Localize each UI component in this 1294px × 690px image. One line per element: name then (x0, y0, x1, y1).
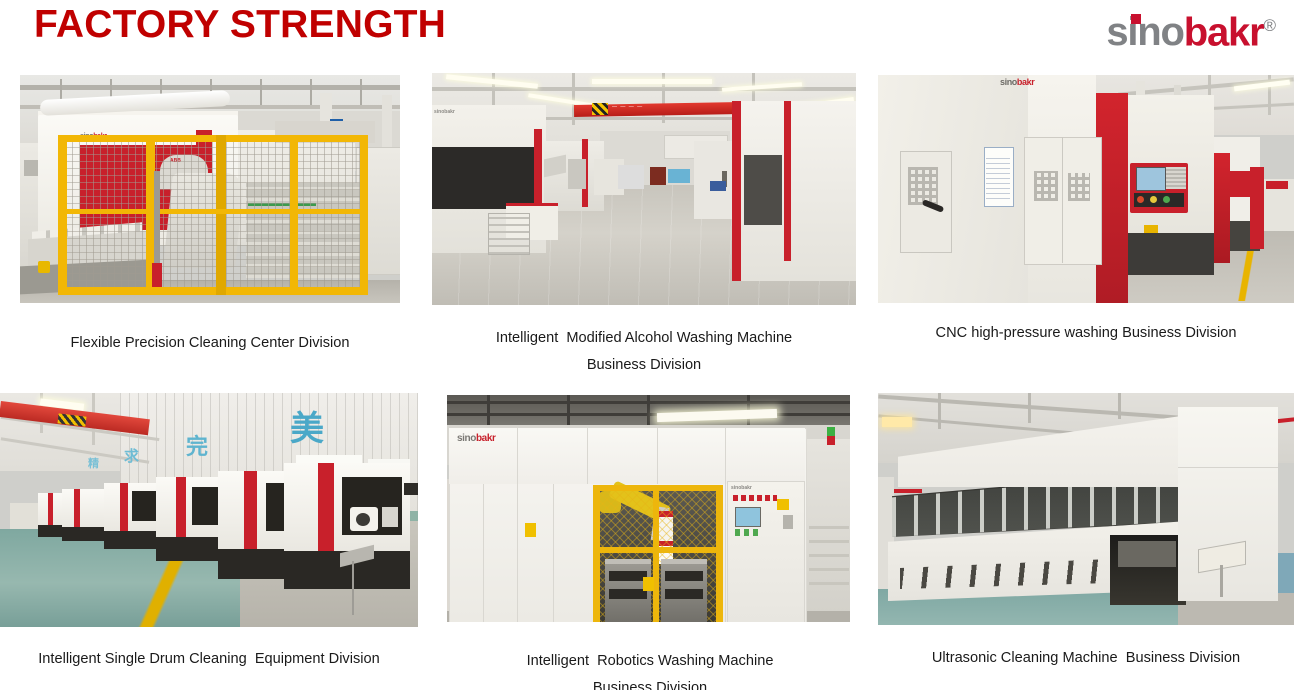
registered-trademark-icon: ® (1263, 16, 1276, 35)
caption-intelligent-single-drum-cleaning-equipment: Intelligent Single Drum Cleaning Equipme… (0, 646, 418, 673)
photo-intelligent-robotics-washing-machine: sinobakr sinobakr (447, 395, 850, 622)
factory-strength-slide: FACTORY STRENGTH sinobakr® sinobakr (0, 0, 1294, 690)
caption-cnc-high-pressure-washing: CNC high-pressure washing Business Divis… (878, 320, 1294, 347)
page-title: FACTORY STRENGTH (34, 3, 446, 47)
photo-cnc-high-pressure-washing: sinobakr (878, 75, 1294, 303)
caption-intelligent-robotics-washing-machine: Intelligent Robotics Washing MachineBusi… (440, 648, 860, 690)
caption-flexible-precision-cleaning-center: Flexible Precision Cleaning Center Divis… (20, 330, 400, 357)
control-cabinet-logo: sinobakr (731, 485, 752, 491)
photo-flexible-precision-cleaning-center: sinobakr ABB (20, 75, 400, 303)
machine-logo: sinobakr (457, 433, 496, 444)
photo-intelligent-modified-alcohol-washing-machine: — — — — sinobakr (432, 73, 856, 305)
logo-i-dot (1131, 14, 1141, 24)
machine-logo: sinobakr (434, 109, 455, 115)
sinobakr-logo: sinobakr® (1106, 2, 1276, 56)
machine-logo: sinobakr (1000, 77, 1034, 87)
caption-intelligent-modified-alcohol-washing-machine: Intelligent Modified Alcohol Washing Mac… (432, 325, 856, 379)
photo-ultrasonic-cleaning-machine (878, 393, 1294, 625)
logo-text-bakr: bakr (1184, 10, 1264, 54)
logo-text-sino: sino (1106, 10, 1183, 54)
photo-intelligent-single-drum-cleaning-equipment: 美 完 求 精 (0, 393, 418, 627)
caption-ultrasonic-cleaning-machine: Ultrasonic Cleaning Machine Business Div… (878, 645, 1294, 672)
